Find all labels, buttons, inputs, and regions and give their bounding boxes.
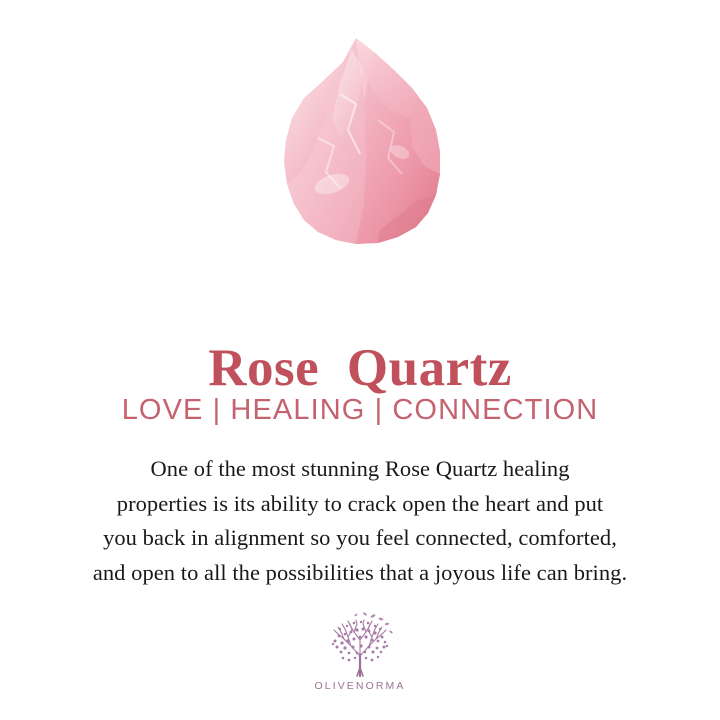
rose-quartz-product-card: Rose Quartz LOVE | HEALING | CONNECTION … [0,0,720,720]
drifting-leaves [354,612,393,634]
description-line: and open to all the possibilities that a… [26,556,694,591]
crystal-image [0,34,720,258]
page-title: Rose Quartz [0,338,720,398]
keyword-tagline: LOVE | HEALING | CONNECTION [0,393,720,427]
description-line: One of the most stunning Rose Quartz hea… [26,452,694,487]
description-line: you back in alignment so you feel connec… [26,521,694,556]
brand-wordmark: OLIVENORMA [314,680,405,692]
tree-icon [321,610,399,678]
description-line: properties is its ability to crack open … [26,487,694,522]
brand-logo: OLIVENORMA [0,610,720,692]
rose-quartz-crystal-illustration [260,34,460,258]
description-paragraph: One of the most stunning Rose Quartz hea… [26,452,694,590]
